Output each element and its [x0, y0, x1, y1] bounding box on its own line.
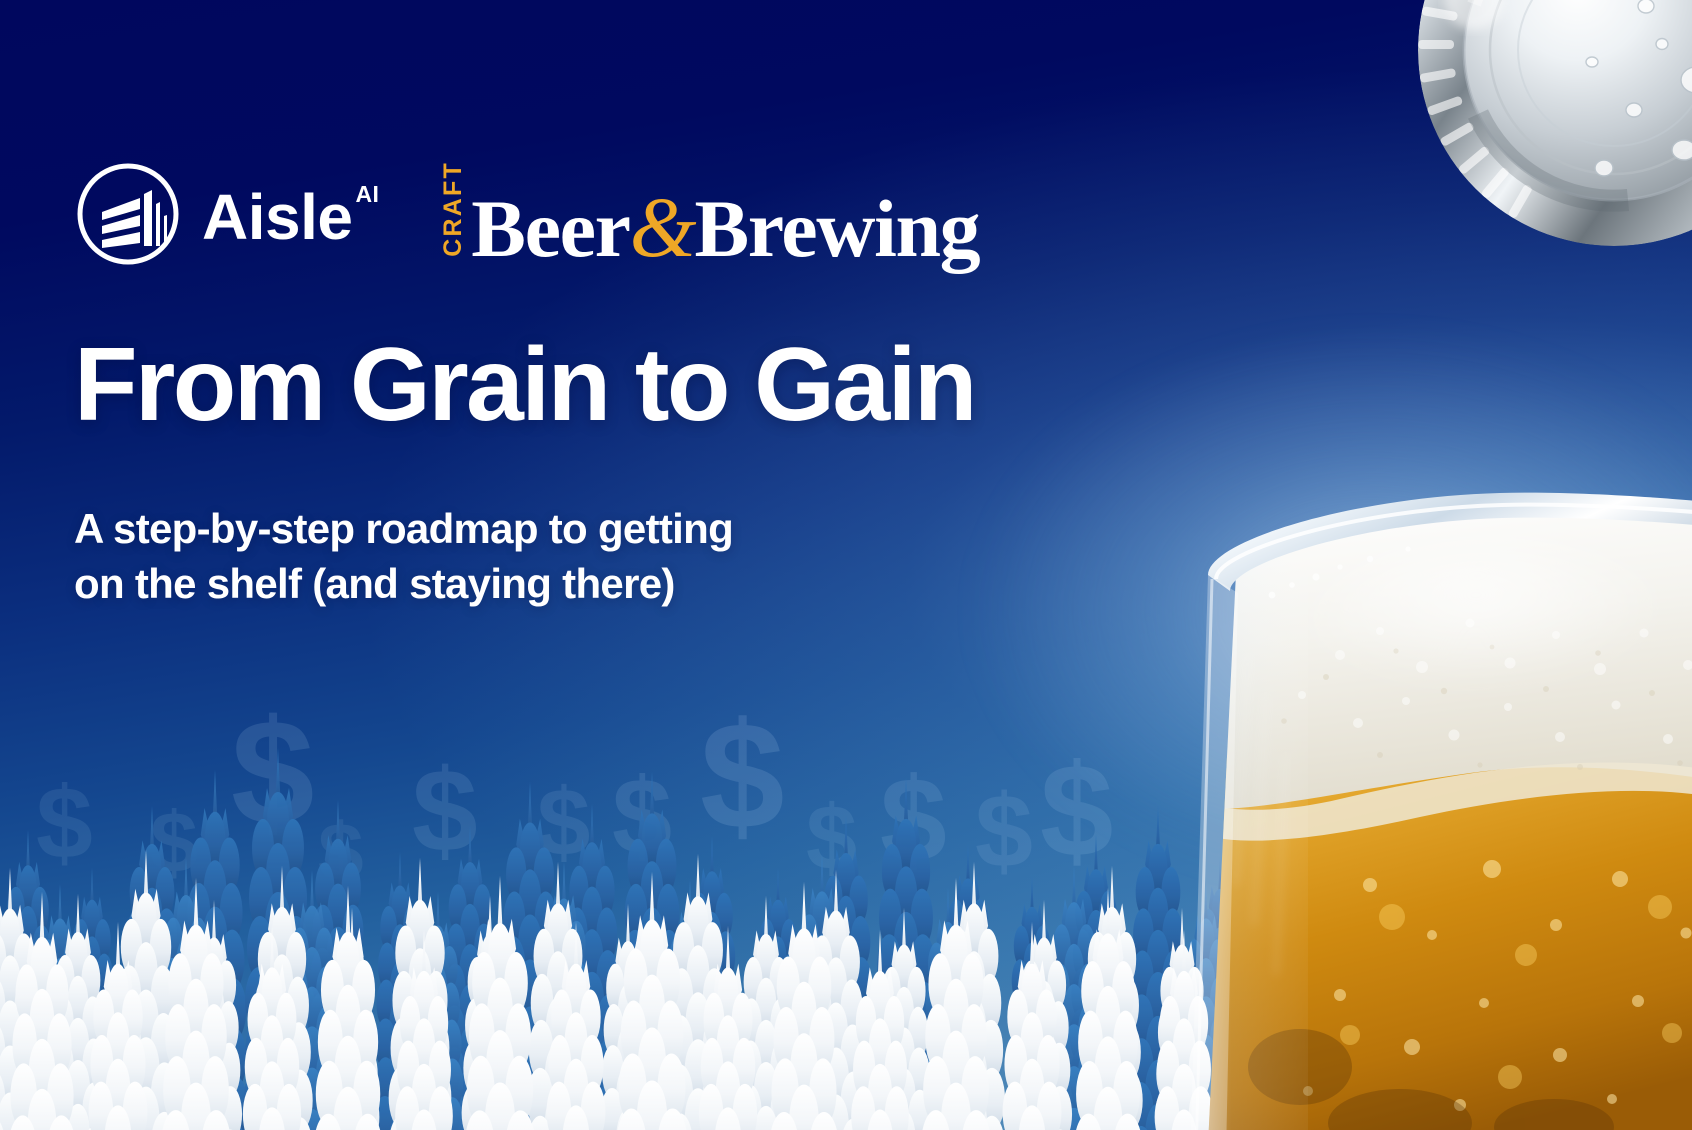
logo-row: Aisle AI CRAFT Beer&Brewing — [74, 152, 979, 276]
hero-headline: From Grain to Gain — [74, 330, 975, 440]
aisle-ai-superscript: AI — [355, 183, 379, 206]
aisle-ai-logo[interactable]: Aisle AI — [74, 160, 379, 268]
cbb-brewing-text: Brewing — [694, 183, 979, 274]
cbb-name-text: Beer&Brewing — [471, 189, 979, 266]
hero-content: Aisle AI CRAFT Beer&Brewing From Grain t… — [74, 0, 1224, 1130]
cbb-beer-text: Beer — [471, 183, 629, 274]
aisle-ai-shelf-mark-icon — [74, 160, 182, 268]
aisle-wordmark: Aisle AI — [202, 179, 379, 249]
cbb-ampersand: & — [630, 179, 695, 275]
craft-beer-and-brewing-logo[interactable]: CRAFT Beer&Brewing — [441, 162, 979, 266]
hero-subtitle: A step-by-step roadmap to getting on the… — [74, 502, 974, 611]
hero-banner: $$$$$$$$$$$$ — [0, 0, 1692, 1130]
hero-subtitle-line-1: A step-by-step roadmap to getting — [74, 502, 974, 557]
hero-subtitle-line-2: on the shelf (and staying there) — [74, 557, 974, 612]
cbb-craft-text: CRAFT — [441, 161, 466, 257]
aisle-wordmark-text: Aisle — [202, 185, 352, 249]
